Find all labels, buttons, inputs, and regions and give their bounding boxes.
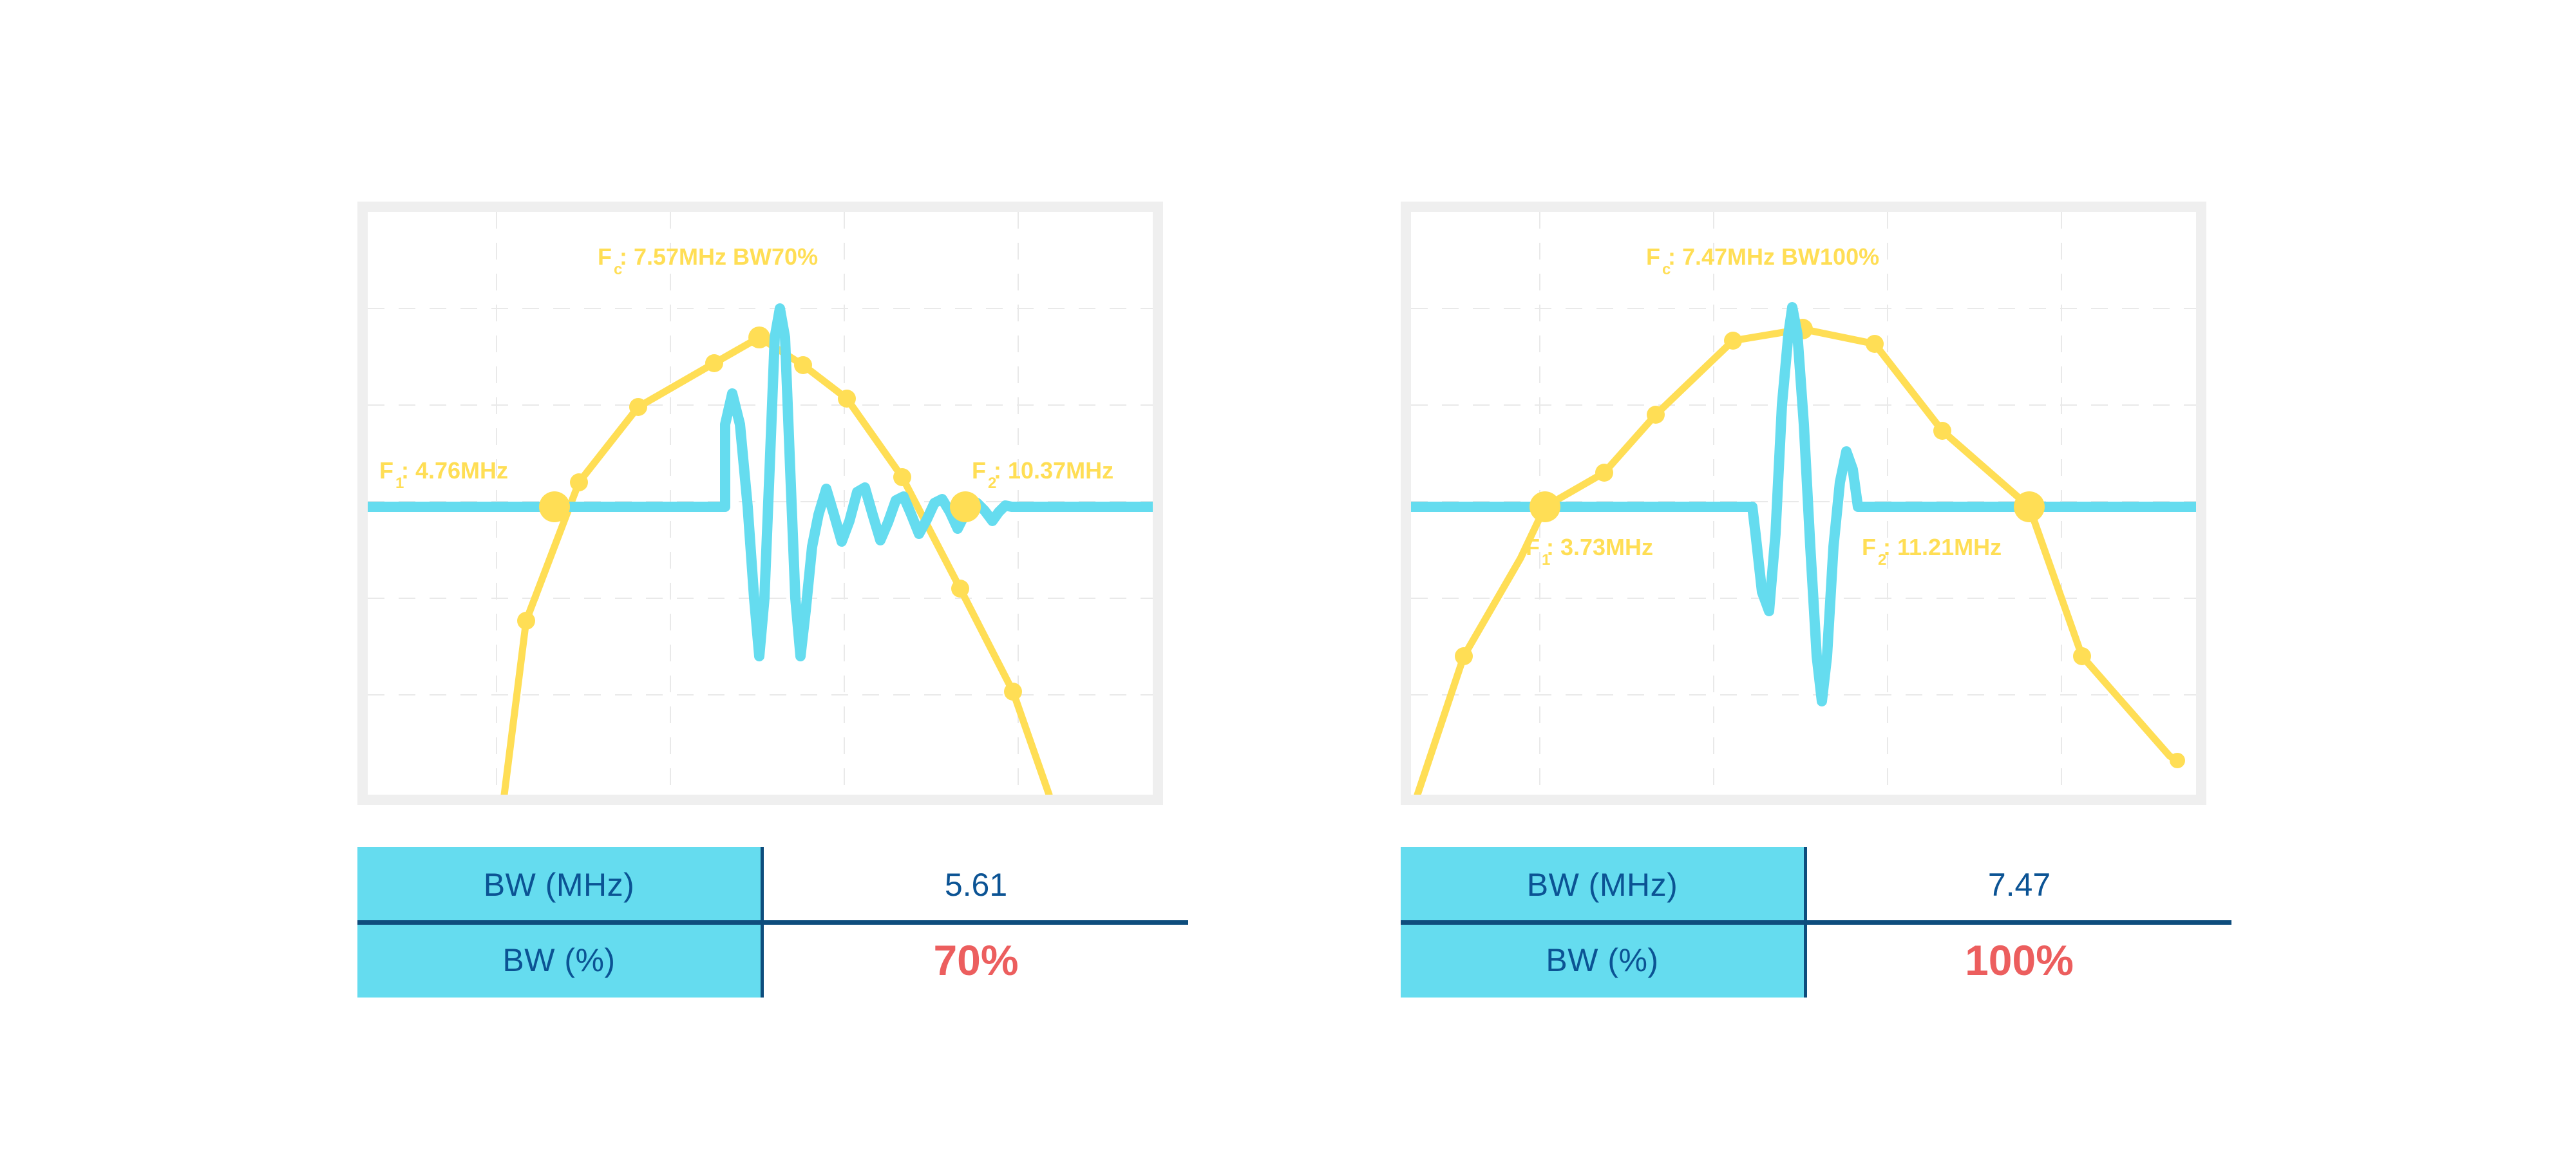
table-header-label: BW (MHz) (484, 866, 635, 903)
table-value-cell: 7.47 (1807, 847, 2231, 922)
table-header-label: BW (%) (502, 941, 615, 979)
table-divider-rule-right (1401, 920, 2231, 925)
annotation-f1-prefix-left: F (379, 457, 393, 484)
plot-area-left: F c : 7.57MHz BW70% F 1 : 4.76MHz F 2 (368, 212, 1153, 795)
table-header-cell: BW (MHz) (357, 847, 764, 922)
table-value-cell: 5.61 (764, 847, 1188, 922)
plot-svg-right: F c : 7.47MHz BW100% F 1 : 3.73MHz F 2 (1411, 212, 2196, 795)
annotation-f2-prefix-left: F (972, 457, 986, 484)
table-value-text: 5.61 (945, 866, 1007, 903)
plot-panel-right: F c : 7.47MHz BW100% F 1 : 3.73MHz F 2 (1401, 202, 2206, 805)
table-header-label: BW (MHz) (1527, 866, 1678, 903)
table-header-cell: BW (%) (1401, 922, 1807, 998)
annotation-f2-right: F 2 : 11.21MHz (1862, 534, 2002, 569)
chart-group-left: F c : 7.57MHz BW70% F 1 : 4.76MHz F 2 (357, 202, 1188, 998)
annotation-center-right: F c : 7.47MHz BW100% (1646, 243, 1879, 278)
chart-group-right: F c : 7.47MHz BW100% F 1 : 3.73MHz F 2 (1401, 202, 2231, 998)
annotation-center-text-right: : 7.47MHz BW100% (1668, 243, 1879, 270)
f1-marker-right (1529, 491, 1560, 522)
annotation-f2-text-left: : 10.37MHz (994, 457, 1113, 484)
table-value-text: 100% (1965, 936, 2074, 985)
plot-panel-left: F c : 7.57MHz BW70% F 1 : 4.76MHz F 2 (357, 202, 1163, 805)
annotation-f1-text-right: : 3.73MHz (1546, 534, 1653, 560)
table-row: BW (MHz) 7.47 (1401, 847, 2231, 922)
f2-marker-left (950, 491, 981, 522)
table-value-cell: 100% (1807, 922, 2231, 998)
table-divider-rule-left (357, 920, 1188, 925)
table-header-cell: BW (%) (357, 922, 764, 998)
annotation-center-prefix-right: F (1646, 243, 1660, 270)
f1-marker-left (539, 491, 570, 522)
plot-area-right: F c : 7.47MHz BW100% F 1 : 3.73MHz F 2 (1411, 212, 2196, 795)
bw-table-right: BW (MHz) 7.47 BW (%) 100% (1401, 847, 2231, 998)
annotation-f2-text-right: : 11.21MHz (1883, 534, 2002, 560)
f2-marker-right (2014, 491, 2045, 522)
annotation-f1-left: F 1 : 4.76MHz (379, 457, 508, 492)
figure-canvas: F c : 7.57MHz BW70% F 1 : 4.76MHz F 2 (0, 0, 2576, 1154)
bw-table-left: BW (MHz) 5.61 BW (%) 70% (357, 847, 1188, 998)
annotation-f2-prefix-right: F (1862, 534, 1876, 560)
table-value-text: 7.47 (1988, 866, 2050, 903)
table-value-cell: 70% (764, 922, 1188, 998)
table-value-text: 70% (933, 936, 1018, 985)
table-header-cell: BW (MHz) (1401, 847, 1807, 922)
annotation-f1-right: F 1 : 3.73MHz (1526, 534, 1653, 569)
annotation-center-left: F c : 7.57MHz BW70% (598, 243, 818, 278)
annotation-f1-text-left: : 4.76MHz (401, 457, 508, 484)
table-row: BW (%) 100% (1401, 922, 2231, 998)
annotation-center-text-left: : 7.57MHz BW70% (620, 243, 818, 270)
table-row: BW (MHz) 5.61 (357, 847, 1188, 922)
annotation-f2-left: F 2 : 10.37MHz (972, 457, 1113, 492)
table-header-label: BW (%) (1546, 941, 1658, 979)
annotation-f1-prefix-right: F (1526, 534, 1540, 560)
annotation-center-prefix-left: F (598, 243, 612, 270)
plot-svg-left: F c : 7.57MHz BW70% F 1 : 4.76MHz F 2 (368, 212, 1153, 795)
table-row: BW (%) 70% (357, 922, 1188, 998)
